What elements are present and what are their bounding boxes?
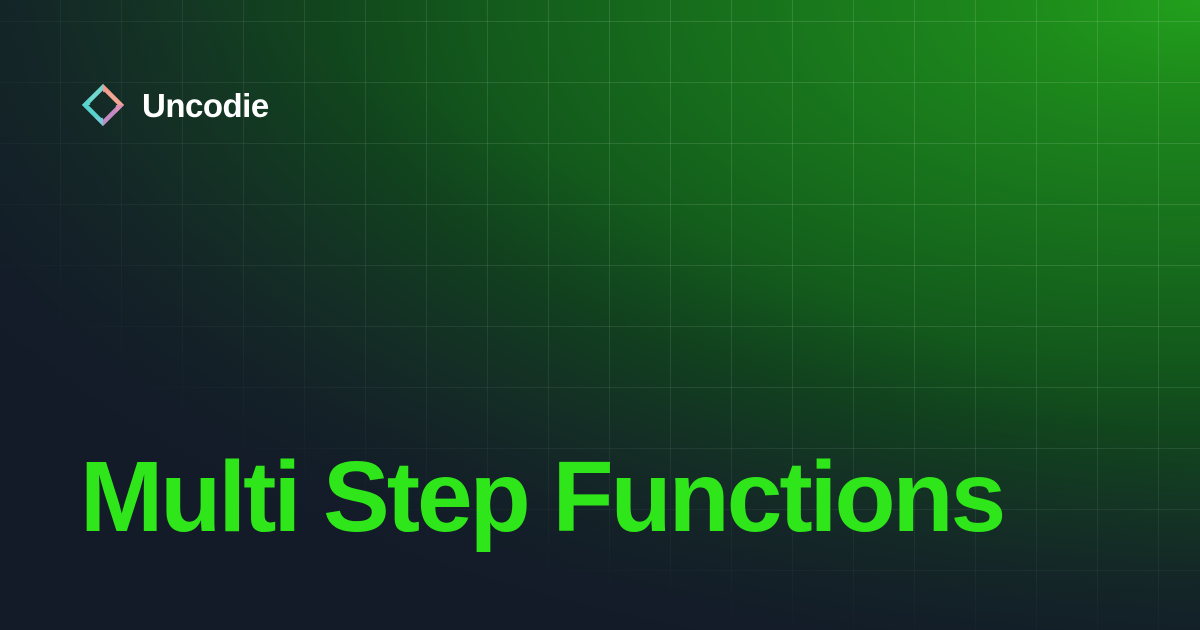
page-title: Multi Step Functions [80,444,1003,550]
og-card: Uncodie Multi Step Functions [0,0,1200,630]
brand-name: Uncodie [142,89,269,122]
diamond-gradient-logo-icon [80,82,126,128]
brand-lockup[interactable]: Uncodie [80,82,269,128]
